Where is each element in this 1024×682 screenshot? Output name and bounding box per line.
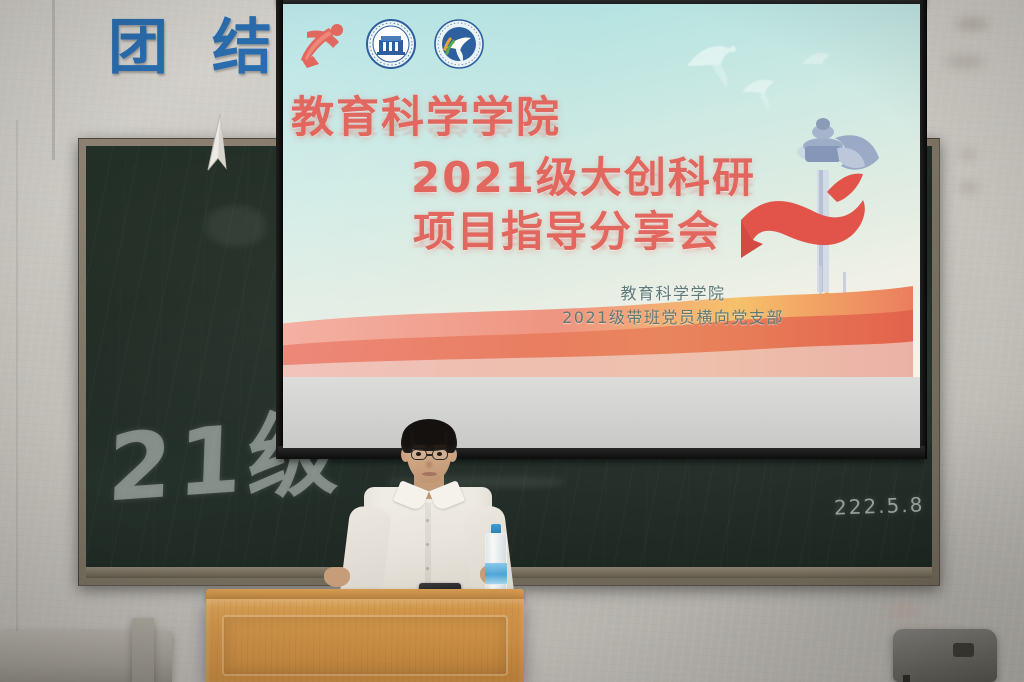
slide-title-reflection-1: 教育科学学院 bbox=[291, 112, 561, 137]
chalk-smear-6 bbox=[206, 206, 266, 246]
screen-right-edge bbox=[920, 0, 927, 459]
chair-handle-slot bbox=[953, 643, 974, 657]
screen-surface: 教育科学学院 教育科学学院 2021级大创科研 2021级大创科研 项目指导分享… bbox=[283, 4, 920, 448]
presenter-hair-side-right bbox=[445, 431, 457, 453]
wall-motto: 团 结 bbox=[108, 18, 272, 78]
wall-smudge-4 bbox=[958, 182, 980, 193]
presenter-nose bbox=[426, 461, 432, 468]
wall-smudge-2 bbox=[945, 55, 985, 68]
water-bottle bbox=[485, 533, 507, 595]
slide-title-reflection-3: 项目指导分享会 bbox=[413, 226, 721, 250]
classroom-presentation-photo: 团 结 21级 222.5.8 bbox=[0, 0, 1024, 682]
slide-logo-row bbox=[293, 16, 485, 72]
desk-rail-surface bbox=[132, 618, 154, 682]
school-of-education-seal-icon bbox=[433, 18, 485, 70]
lectern-front-panel bbox=[222, 615, 508, 676]
lectern-body bbox=[206, 599, 524, 682]
shirt-button-1 bbox=[426, 519, 429, 522]
projector-screen: 教育科学学院 教育科学学院 2021级大创科研 2021级大创科研 项目指导分享… bbox=[283, 4, 920, 448]
presentation-slide: 教育科学学院 教育科学学院 2021级大创科研 2021级大创科研 项目指导分享… bbox=[283, 4, 920, 377]
eyeglasses-bridge bbox=[427, 454, 432, 456]
presenter-mouth bbox=[422, 472, 437, 476]
presenter-eye-left bbox=[416, 452, 421, 456]
wooden-lectern bbox=[206, 589, 524, 682]
chair-leg-left bbox=[903, 675, 910, 682]
slide-subtitle-block: 教育科学学院 2021级带班党员横向党支部 bbox=[528, 282, 818, 330]
presenter-left-hand bbox=[324, 567, 350, 587]
slide-title-reflection-2: 2021级大创科研 bbox=[411, 172, 756, 196]
wall-smudge-1 bbox=[955, 18, 989, 30]
presenter-brow-right bbox=[433, 445, 446, 448]
cpc-party-emblem-icon bbox=[293, 16, 349, 72]
motto-char-2: 结 bbox=[212, 18, 272, 78]
folding-chair bbox=[893, 629, 997, 682]
presenter-brow-left bbox=[413, 445, 426, 448]
wall-seam-left bbox=[52, 0, 55, 160]
screen-left-edge bbox=[276, 0, 283, 459]
shirt-button-2 bbox=[426, 543, 429, 546]
dove-icon-3 bbox=[799, 46, 839, 82]
university-seal-icon bbox=[365, 18, 417, 70]
wall-seam-vertical bbox=[16, 120, 18, 680]
slide-subtitle-line-1: 教育科学学院 bbox=[528, 282, 818, 306]
wall-smudge-6 bbox=[886, 604, 922, 618]
wall-smudge-3 bbox=[960, 150, 976, 159]
slide-title-block-3: 项目指导分享会 项目指导分享会 bbox=[413, 210, 721, 293]
shirt-button-3 bbox=[426, 567, 429, 570]
motto-char-1: 团 bbox=[108, 18, 168, 78]
presenter-eye-right bbox=[437, 452, 442, 456]
chalk-date-label: 222.5.8 bbox=[834, 492, 925, 519]
desk-rear-rail bbox=[132, 618, 154, 682]
paper-airplane-icon bbox=[196, 112, 242, 174]
presenter-hair-side-left bbox=[401, 431, 413, 453]
slide-subtitle-line-2: 2021级带班党员横向党支部 bbox=[528, 306, 818, 330]
bottle-label bbox=[485, 563, 507, 584]
